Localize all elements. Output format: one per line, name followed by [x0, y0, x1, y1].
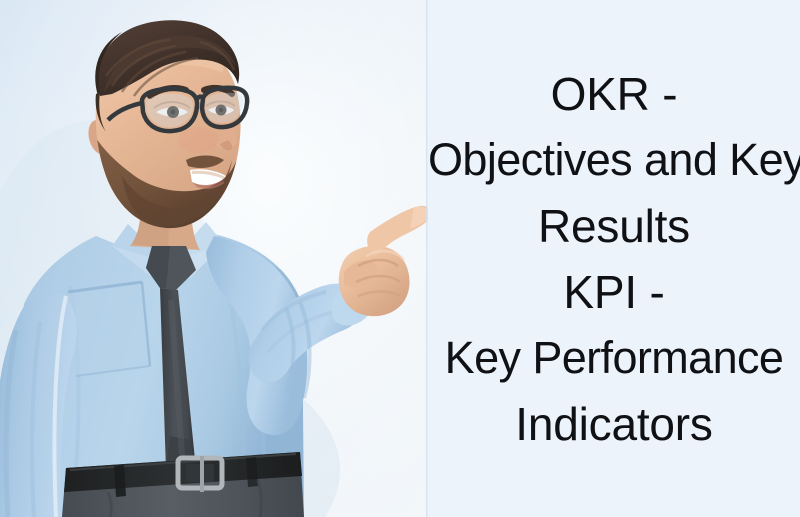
headline-line-4: KPI - — [428, 259, 800, 325]
headline-panel: OKR - Objectives and Key Results KPI - K… — [428, 0, 800, 517]
photo-panel — [0, 0, 428, 517]
headline-text-block: OKR - Objectives and Key Results KPI - K… — [428, 61, 800, 457]
headline-line-1: OKR - — [428, 61, 800, 127]
headline-line-6: Indicators — [428, 391, 800, 457]
headline-line-3: Results — [428, 193, 800, 259]
headline-line-5: Key Performance — [428, 325, 800, 391]
headline-line-2: Objectives and Key — [428, 127, 800, 193]
slide-canvas: OKR - Objectives and Key Results KPI - K… — [0, 0, 800, 517]
businessman-photo — [0, 0, 428, 517]
